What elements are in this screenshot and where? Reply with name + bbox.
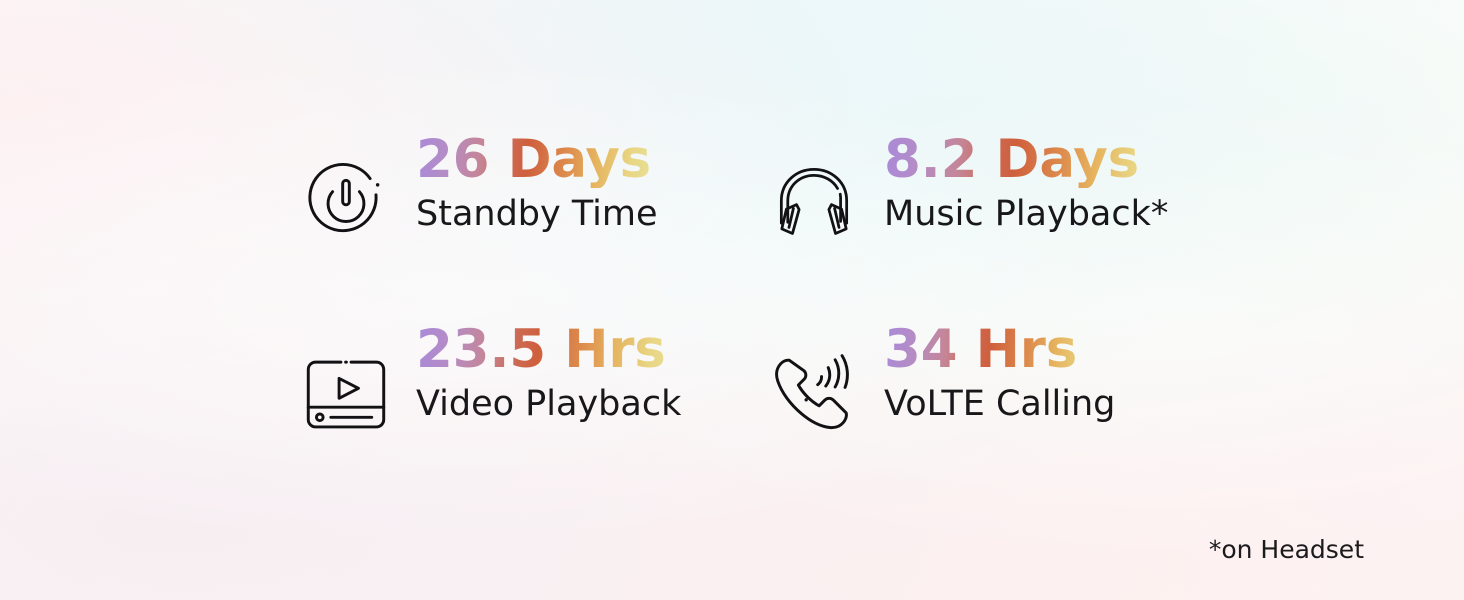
stat-label: VoLTE Calling — [884, 384, 1115, 425]
stat-value: 26 Days — [416, 132, 658, 188]
stat-item-standby-time: 26 Days Standby Time — [300, 128, 752, 318]
stat-value: 34 Hrs — [884, 322, 1115, 378]
stat-item-music-playback: 8.2 Days Music Playback* — [768, 128, 1220, 318]
stat-text-volte-calling: 34 Hrs VoLTE Calling — [884, 318, 1115, 425]
phone-call-icon — [768, 346, 860, 438]
power-icon — [300, 156, 392, 248]
stat-value: 8.2 Days — [884, 132, 1168, 188]
battery-life-banner: 26 Days Standby Time 8.2 Days Music P — [0, 0, 1464, 600]
stat-label: Music Playback* — [884, 194, 1168, 235]
stat-text-music-playback: 8.2 Days Music Playback* — [884, 128, 1168, 235]
stat-label: Video Playback — [416, 384, 681, 425]
headphones-icon — [768, 156, 860, 248]
stat-text-standby-time: 26 Days Standby Time — [416, 128, 658, 235]
video-player-icon — [300, 346, 392, 438]
footnote: *on Headset — [1209, 535, 1364, 564]
stat-value: 23.5 Hrs — [416, 322, 681, 378]
stats-grid: 26 Days Standby Time 8.2 Days Music P — [300, 128, 1220, 508]
stat-text-video-playback: 23.5 Hrs Video Playback — [416, 318, 681, 425]
stat-label: Standby Time — [416, 194, 658, 235]
stat-item-volte-calling: 34 Hrs VoLTE Calling — [768, 318, 1220, 508]
stat-item-video-playback: 23.5 Hrs Video Playback — [300, 318, 752, 508]
